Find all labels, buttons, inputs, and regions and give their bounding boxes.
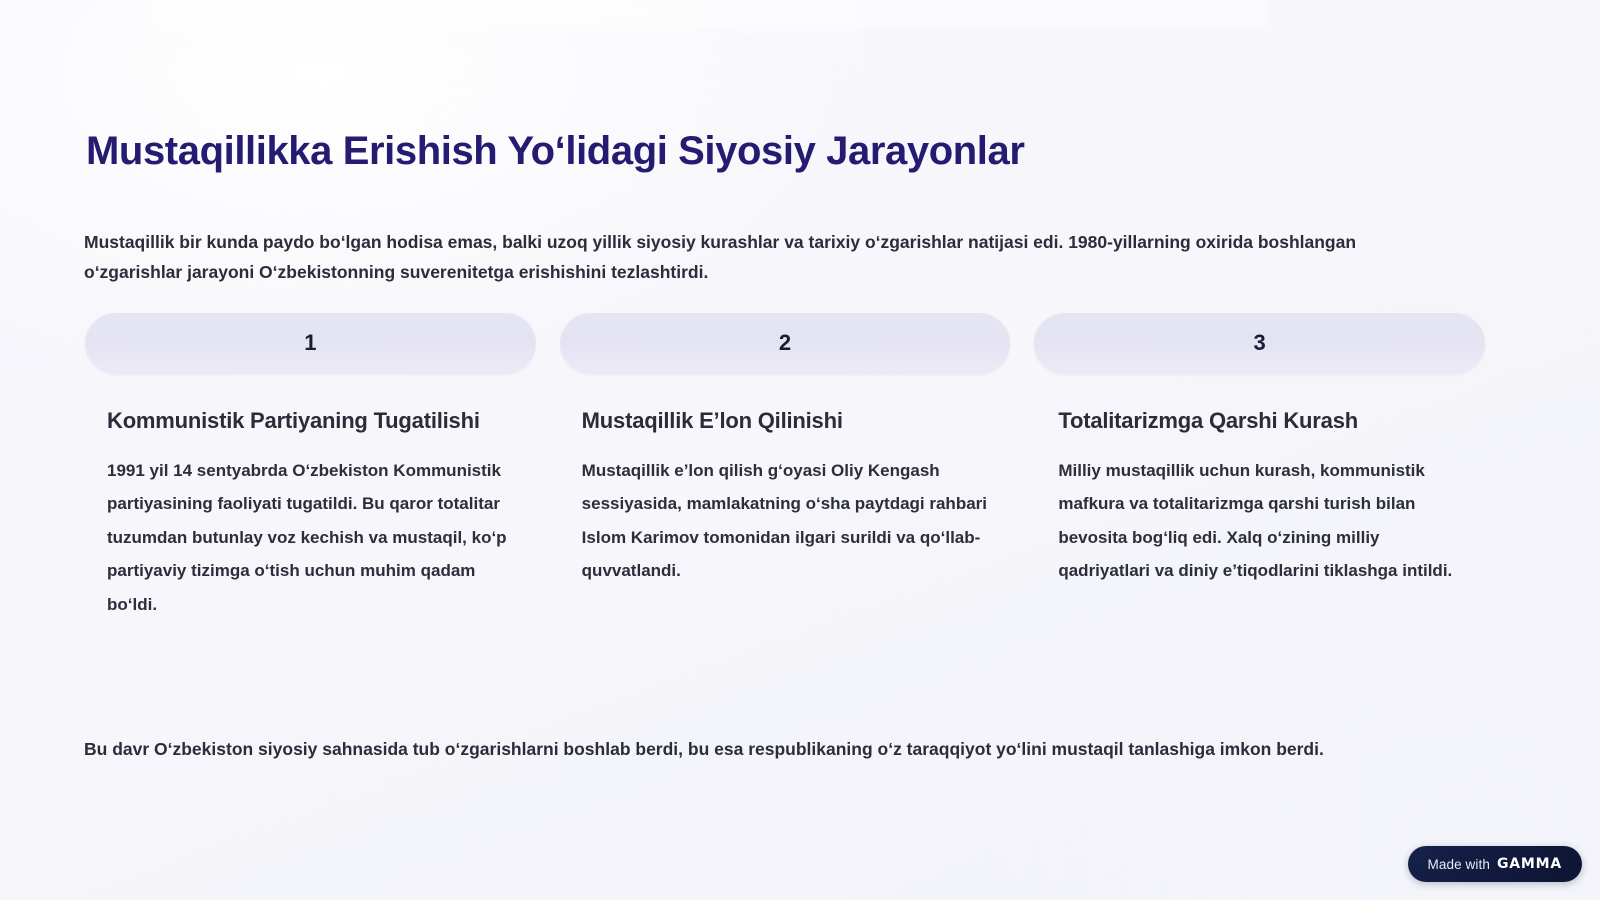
intro-paragraph: Mustaqillik bir kunda paydo bo‘lgan hodi…	[84, 227, 1432, 287]
number-pill-label: 1	[304, 332, 316, 354]
column-heading-3: Totalitarizmga Qarshi Kurash	[1034, 407, 1485, 436]
number-pill-3[interactable]: 3	[1034, 312, 1485, 374]
column-2: 2 Mustaqillik E’lon Qilinishi Mustaqilli…	[560, 312, 1011, 621]
number-pill-2[interactable]: 2	[560, 312, 1011, 374]
footer-paragraph: Bu davr O‘zbekiston siyosiy sahnasida tu…	[84, 735, 1600, 763]
column-body-3: Milliy mustaqillik uchun kurash, kommuni…	[1034, 454, 1485, 588]
column-heading-1: Kommunistik Partiyaning Tugatilishi	[85, 407, 536, 436]
column-1: 1 Kommunistik Partiyaning Tugatilishi 19…	[85, 312, 536, 621]
number-pill-label: 2	[779, 332, 791, 354]
made-with-label: Made with	[1428, 857, 1490, 872]
column-body-1: 1991 yil 14 sentyabrda O‘zbekiston Kommu…	[85, 454, 536, 621]
column-3: 3 Totalitarizmga Qarshi Kurash Milliy mu…	[1034, 312, 1485, 621]
column-body-2: Mustaqillik e’lon qilish g‘oyasi Oliy Ke…	[560, 454, 1011, 588]
column-heading-2: Mustaqillik E’lon Qilinishi	[560, 407, 1011, 436]
columns-container: 1 Kommunistik Partiyaning Tugatilishi 19…	[85, 312, 1485, 621]
page-title: Mustaqillikka Erishish Yo‘lidagi Siyosiy…	[86, 128, 1025, 175]
number-pill-1[interactable]: 1	[85, 312, 536, 374]
made-with-gamma-badge[interactable]: Made with GAMMA	[1408, 846, 1582, 882]
top-sheen-decoration	[150, 0, 1270, 30]
slide-canvas: Mustaqillikka Erishish Yo‘lidagi Siyosiy…	[0, 0, 1600, 900]
gamma-wordmark: GAMMA	[1497, 856, 1562, 872]
number-pill-label: 3	[1254, 332, 1266, 354]
